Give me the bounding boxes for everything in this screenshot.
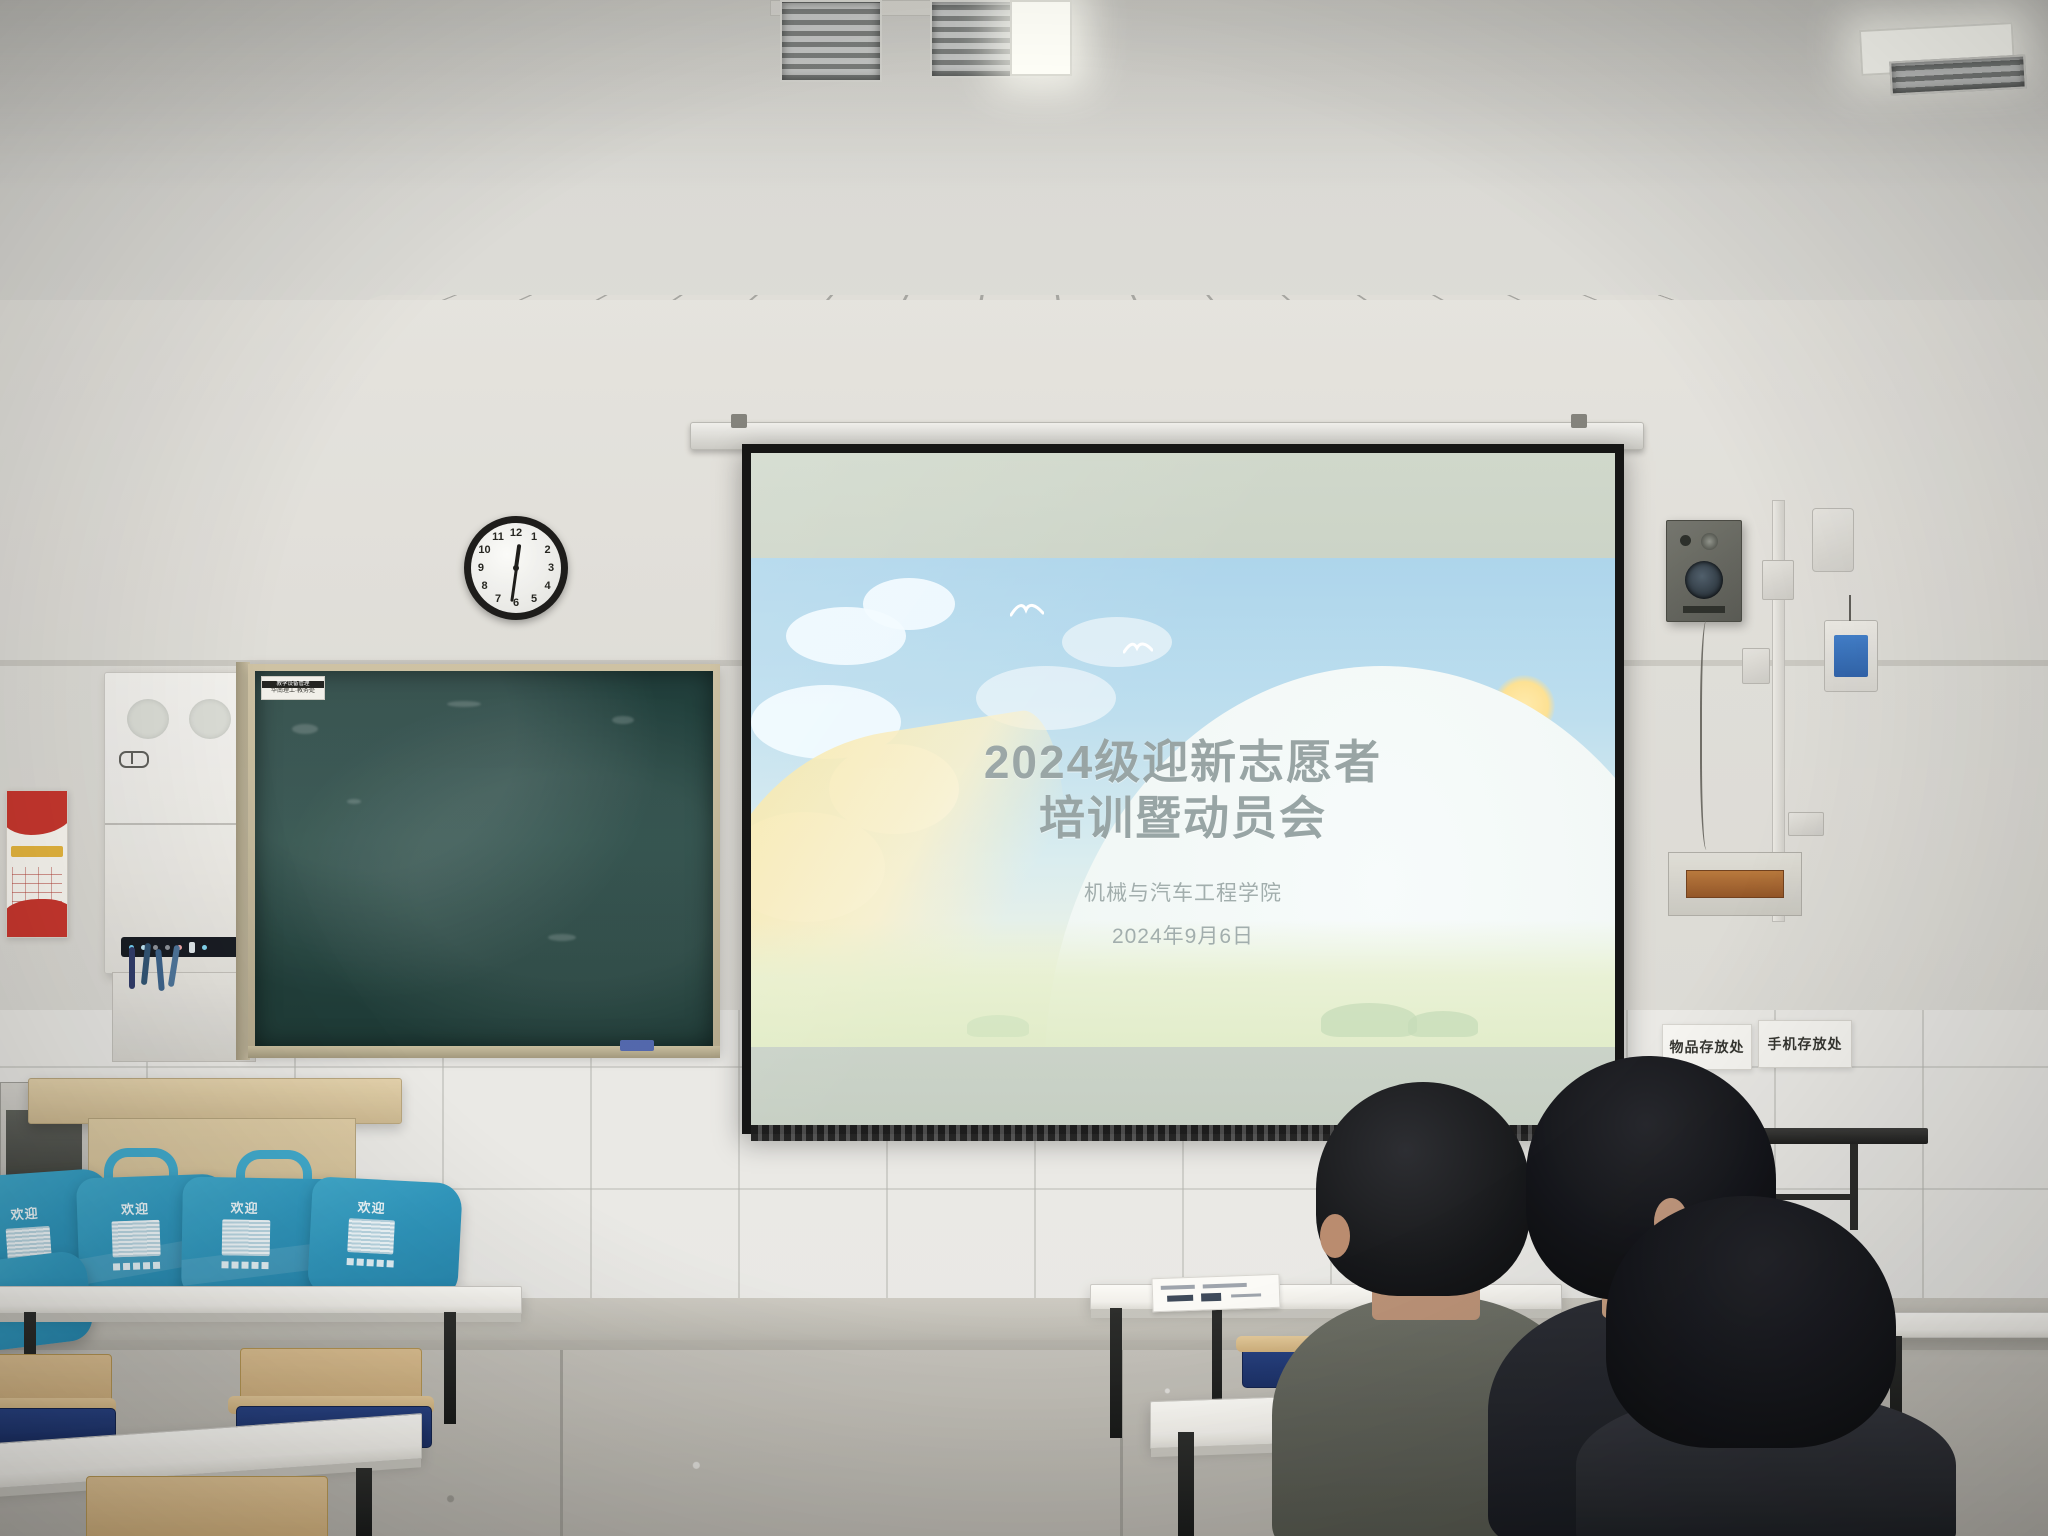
bush-1 [1321, 1003, 1417, 1037]
screen-mount-bracket-left [731, 414, 747, 428]
purifier-indicator-4 [165, 945, 170, 950]
table-right-front-leg [1178, 1432, 1194, 1536]
chalk-smudge-5 [548, 934, 576, 941]
poster-bottom-wave [6, 899, 68, 937]
classroom-photo: 12 1 2 3 4 5 6 7 8 9 10 11 教学设备管理 [0, 0, 2048, 1536]
clock-numeral-6: 6 [513, 597, 519, 609]
junction-box-mid [1742, 648, 1770, 684]
purifier-control-panel[interactable] [121, 937, 245, 957]
paper-block-1 [1167, 1295, 1193, 1302]
tote-bag-4: 欢迎 [307, 1176, 463, 1300]
paper-line-1 [1161, 1285, 1195, 1290]
purifier-base-cabinet [112, 972, 256, 1062]
controller-lcd-screen [1834, 635, 1868, 677]
wall-clock: 12 1 2 3 4 5 6 7 8 9 10 11 [464, 516, 568, 620]
speaker-cable [1700, 620, 1716, 850]
student-right-hair [1606, 1196, 1896, 1448]
junction-box-bottom [1788, 812, 1824, 836]
wall-speaker [1666, 520, 1742, 622]
purifier-vent-left [127, 699, 169, 739]
table-right-back-leg-1 [1110, 1308, 1122, 1438]
blackboard-equipment-label: 教学设备管理 华南理工·教务处 [261, 676, 325, 700]
blackboard-frame: 教学设备管理 华南理工·教务处 [248, 664, 720, 1054]
ceiling-air-grille-1 [780, 0, 882, 82]
projection-screen-surface: 2024级迎新志愿者 培训暨动员会 机械与汽车工程学院 2024年9月6日 [751, 453, 1615, 1125]
slide-title-line1: 2024级迎新志愿者 [751, 734, 1615, 790]
speaker-badge [1683, 606, 1725, 613]
clock-numeral-5: 5 [531, 593, 537, 605]
clock-numeral-7: 7 [495, 593, 501, 605]
tote-bag-logo-2: 欢迎 [121, 1198, 150, 1218]
student-left-ear [1320, 1214, 1350, 1258]
clock-numeral-1: 1 [531, 531, 537, 543]
paper-line-3 [1231, 1293, 1261, 1297]
clock-numeral-12: 12 [510, 527, 522, 539]
slide-title-line2: 培训暨动员会 [751, 790, 1615, 846]
brass-nameplate-panel [1668, 852, 1802, 916]
clock-numeral-10: 10 [478, 544, 490, 556]
speaker-woofer [1685, 561, 1723, 599]
chalk-smudge-1 [292, 724, 318, 734]
cloud-soft-2 [1062, 617, 1172, 667]
tote-bag-logo-4: 欢迎 [357, 1197, 386, 1217]
bush-3 [967, 1015, 1029, 1037]
blackboard-label-sub: 华南理工·教务处 [271, 688, 315, 695]
slide-organization: 机械与汽车工程学院 [751, 876, 1615, 913]
bush-2 [1408, 1011, 1478, 1037]
chalk-smudge-4 [347, 799, 361, 804]
chalk-smudge-3 [612, 716, 634, 724]
handout-paper-1 [1151, 1274, 1280, 1312]
projection-screen: 2024级迎新志愿者 培训暨动员会 机械与汽车工程学院 2024年9月6日 [742, 444, 1624, 1134]
marker-pen-1 [129, 947, 135, 989]
slide-date: 2024年9月6日 [751, 919, 1615, 956]
table-left-leg-2 [444, 1312, 456, 1424]
sign-phone-storage-label: 手机存放处 [1768, 1034, 1843, 1054]
chalk-smudge-2 [447, 701, 481, 707]
wall-mounted-sensor [1812, 508, 1854, 572]
blackboard-eraser [620, 1040, 654, 1051]
clock-numeral-8: 8 [481, 580, 487, 592]
paper-line-2 [1203, 1283, 1247, 1289]
speaker-port [1680, 535, 1691, 546]
table-front-left-leg [356, 1468, 372, 1536]
screen-mount-bracket-right [1571, 414, 1587, 428]
clock-numeral-9: 9 [478, 562, 484, 574]
antenna-icon [1849, 595, 1851, 621]
tote-bag-graphic-4 [347, 1218, 395, 1254]
ceiling-light-panel-1 [1010, 0, 1072, 76]
blackboard: 教学设备管理 华南理工·教务处 [255, 671, 713, 1047]
paper-block-2 [1201, 1293, 1221, 1302]
junction-box-top [1762, 560, 1794, 600]
bird-icon-1 [1010, 602, 1044, 618]
purifier-indicator-7 [202, 945, 207, 950]
person-student-right [1596, 1196, 1926, 1536]
tote-bag-logo-3: 欢迎 [230, 1197, 258, 1216]
clock-numeral-2: 2 [544, 544, 550, 556]
wall-poster [6, 790, 68, 938]
clock-numeral-3: 3 [548, 562, 554, 574]
ceiling-air-grille-3 [1889, 54, 2027, 95]
cloud-2 [863, 578, 955, 630]
tote-bag-marks-4 [347, 1258, 394, 1267]
floor-seam-1 [560, 1350, 563, 1536]
clock-face: 12 1 2 3 4 5 6 7 8 9 10 11 [471, 523, 561, 613]
chair-back-3 [86, 1476, 328, 1536]
sign-item-storage-label: 物品存放处 [1670, 1037, 1745, 1057]
speaker-tweeter [1701, 533, 1718, 550]
poster-top-wave [6, 791, 68, 835]
controller-display-unit[interactable] [1824, 620, 1878, 692]
clock-numeral-4: 4 [544, 580, 550, 592]
table-left [0, 1286, 522, 1314]
purifier-vent-right [189, 699, 231, 739]
purifier-indicator-6 [189, 942, 195, 953]
table-left-edge [0, 1313, 521, 1322]
presentation-slide: 2024级迎新志愿者 培训暨动员会 机械与汽车工程学院 2024年9月6日 [751, 558, 1615, 1047]
slide-letterbox-top [751, 453, 1615, 558]
clock-numeral-11: 11 [492, 531, 504, 543]
clock-center-pin [513, 565, 519, 571]
slide-text-block: 2024级迎新志愿者 培训暨动员会 机械与汽车工程学院 2024年9月6日 [751, 734, 1615, 956]
brass-plate [1686, 870, 1784, 898]
tote-bag-logo-1: 欢迎 [10, 1203, 39, 1224]
poster-title-band [11, 846, 63, 857]
bird-icon-2 [1123, 641, 1153, 655]
purifier-brand-logo [119, 751, 149, 768]
